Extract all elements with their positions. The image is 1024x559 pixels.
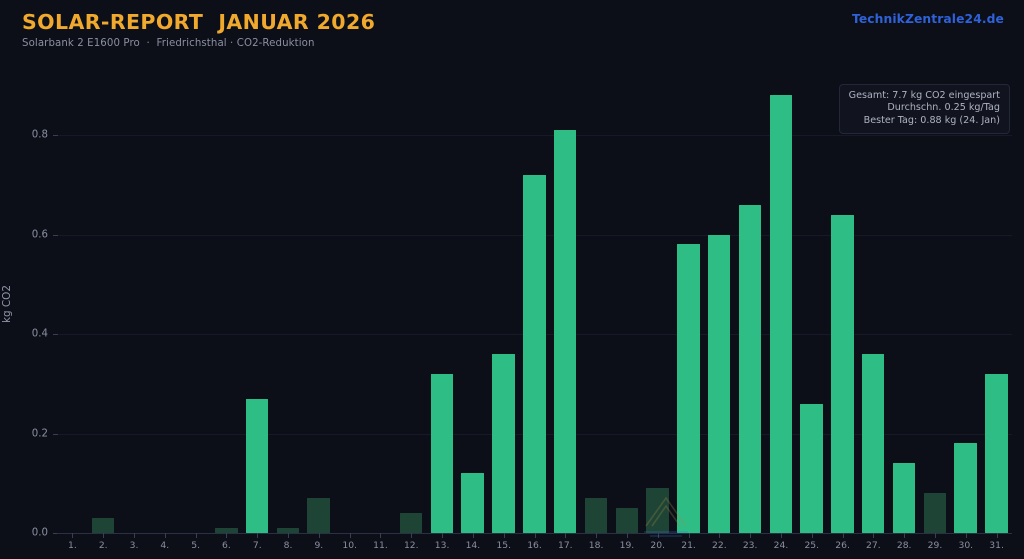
bar-slot [766,85,797,533]
x-tick-mark [627,533,628,538]
bar[interactable] [616,508,639,533]
bar-slot [858,85,889,533]
y-tick-label: 0.8 [0,130,48,141]
x-tick-mark [565,533,566,538]
x-tick-mark [319,533,320,538]
bar-slot [211,85,242,533]
bar-slot [396,85,427,533]
x-tick-mark [196,533,197,538]
y-axis-title: kg CO2 [1,285,13,323]
x-tick-mark [350,533,351,538]
bar-slot [180,85,211,533]
y-tick-label: 0.4 [0,329,48,340]
y-tick-label: 0.2 [0,428,48,439]
x-tick-mark [904,533,905,538]
x-tick-mark [442,533,443,538]
bar[interactable] [831,215,854,533]
bar-slot [581,85,612,533]
bar[interactable] [585,498,608,533]
x-tick-mark [535,533,536,538]
bar-slot [889,85,920,533]
bar-slot [550,85,581,533]
x-tick-mark [134,533,135,538]
bar-slot [920,85,951,533]
bar-slot [273,85,304,533]
bar-slot [488,85,519,533]
bar-slot [457,85,488,533]
x-tick-mark [873,533,874,538]
bar-slot [704,85,735,533]
x-tick-mark [750,533,751,538]
bar[interactable] [461,473,484,533]
bar[interactable] [954,443,977,533]
bar-slot [981,85,1012,533]
bar[interactable] [800,404,823,533]
x-tick-mark [843,533,844,538]
bar-slot [827,85,858,533]
bar-slot [519,85,550,533]
x-tick-mark [226,533,227,538]
bar-slot [57,85,88,533]
bar[interactable] [523,175,546,533]
bar-slot [119,85,150,533]
bar[interactable] [708,235,731,534]
x-tick-mark [288,533,289,538]
bar[interactable] [985,374,1008,533]
bar-slot [950,85,981,533]
x-tick-mark [103,533,104,538]
stat-total: Gesamt: 7.7 kg CO2 eingespart [849,90,1000,102]
x-tick-mark [411,533,412,538]
x-tick-mark [781,533,782,538]
bar[interactable] [307,498,330,533]
bar[interactable] [862,354,885,533]
bar[interactable] [924,493,947,533]
x-tick-mark [473,533,474,538]
bar[interactable] [739,205,762,533]
stat-average: Durchschn. 0.25 kg/Tag [849,102,1000,114]
bar-slot [673,85,704,533]
x-tick-mark [966,533,967,538]
bar-slot [149,85,180,533]
x-tick-mark [504,533,505,538]
x-tick-mark [997,533,998,538]
bar-slot [334,85,365,533]
x-tick-mark [719,533,720,538]
bar-slot [427,85,458,533]
bar-slot [88,85,119,533]
y-tick-label: 0.6 [0,229,48,240]
bar[interactable] [770,95,793,533]
bar-slot [796,85,827,533]
x-tick-label: 31. [977,540,1017,551]
x-tick-mark [812,533,813,538]
bar-slot [735,85,766,533]
bar-slot [612,85,643,533]
x-tick-mark [596,533,597,538]
bar-slot [303,85,334,533]
bar-series [57,85,1012,533]
x-tick-mark [689,533,690,538]
y-tick-label: 0.0 [0,528,48,539]
bar-slot [642,85,673,533]
x-tick-mark [72,533,73,538]
bar[interactable] [400,513,423,533]
x-tick-mark [165,533,166,538]
x-tick-mark [935,533,936,538]
x-tick-mark [380,533,381,538]
bar-slot [242,85,273,533]
x-tick-mark [257,533,258,538]
bar[interactable] [893,463,916,533]
bar[interactable] [646,488,669,533]
bar[interactable] [677,244,700,533]
bar[interactable] [431,374,454,533]
bar[interactable] [554,130,577,533]
bar[interactable] [92,518,115,533]
x-tick-mark [658,533,659,538]
stat-best-day: Bester Tag: 0.88 kg (24. Jan) [849,115,1000,127]
summary-stats-box: Gesamt: 7.7 kg CO2 eingespart Durchschn.… [839,84,1010,134]
bar-slot [365,85,396,533]
bar[interactable] [492,354,515,533]
bar[interactable] [246,399,269,533]
